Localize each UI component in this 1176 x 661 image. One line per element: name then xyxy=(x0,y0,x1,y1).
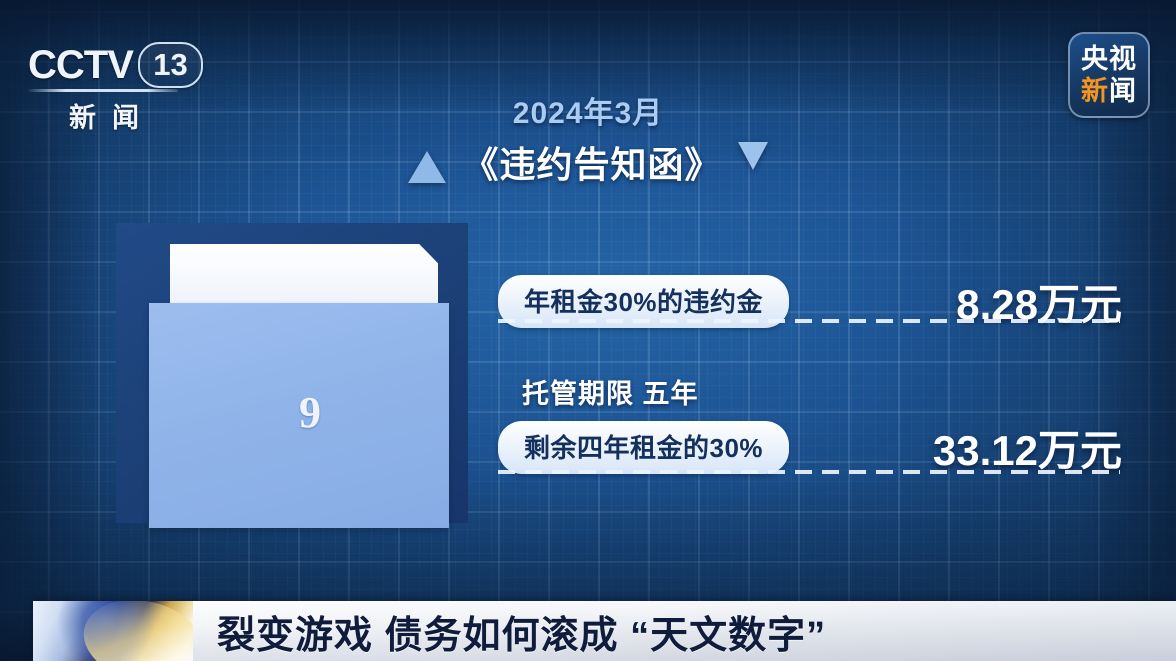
channel-number-badge: 13 xyxy=(138,42,203,88)
lower-third-banner: 裂变游戏 债务如何滚成 “天文数字” xyxy=(33,601,1176,661)
divider-row-1 xyxy=(498,319,1120,323)
divider-row-2 xyxy=(498,470,1120,474)
headline-date: 2024年3月 xyxy=(0,88,1176,132)
row-2-label-pill: 剩余四年租金的30% xyxy=(498,421,789,474)
triangle-down-icon xyxy=(738,142,768,170)
globe-graphic-icon xyxy=(33,601,193,661)
envelope-illustration: 9 xyxy=(116,223,468,543)
headline-block: 2024年3月 《违约告知函》 xyxy=(0,88,1176,188)
cctv-wordmark: CCTV xyxy=(28,43,133,87)
envelope-letter-paper xyxy=(170,244,438,308)
badge-line-top: 央视 xyxy=(1081,43,1137,75)
row-2-amount: 33.12万元 xyxy=(933,417,1122,478)
row-2-sub-label: 托管期限 五年 xyxy=(522,372,699,411)
cctv-logo-row: CCTV 13 xyxy=(28,42,203,88)
banner-headline-text: 裂变游戏 债务如何滚成 “天文数字” xyxy=(217,604,826,659)
headline-title: 《违约告知函》 xyxy=(462,136,721,188)
triangle-up-icon xyxy=(408,151,446,183)
envelope-clasp-icon: 9 xyxy=(299,391,321,435)
envelope-front-flap: 9 xyxy=(149,303,449,528)
headline-title-row: 《违约告知函》 xyxy=(0,136,1176,188)
data-row-remaining-rent: 剩余四年租金的30% 33.12万元 xyxy=(498,417,1122,478)
broadcast-graphic-screen: CCTV 13 新闻 央视 新闻 2024年3月 《违约告知函》 9 年租金30… xyxy=(0,0,1176,661)
